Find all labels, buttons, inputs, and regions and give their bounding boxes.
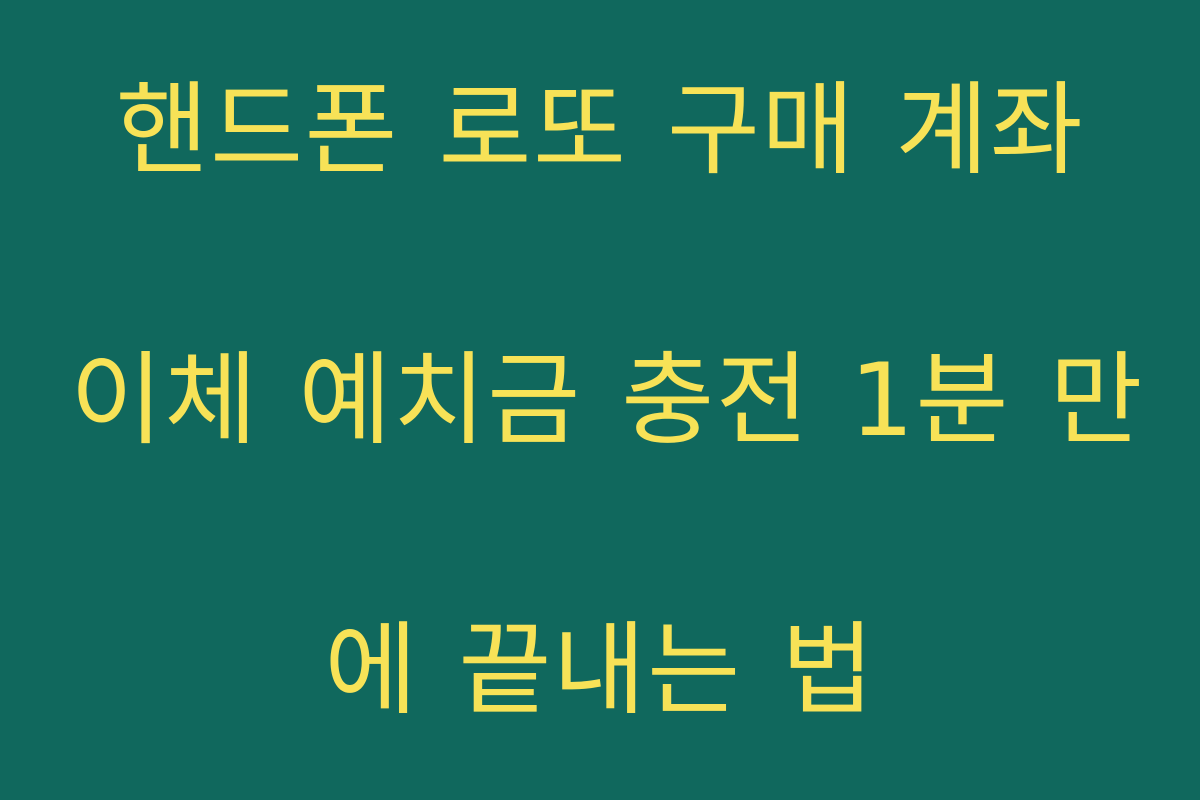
headline-line-3: 에 끝내는 법: [70, 603, 1130, 738]
banner-headline: 핸드폰 로또 구매 계좌 이체 예치금 충전 1분 만 에 끝내는 법: [70, 0, 1130, 800]
headline-line-1: 핸드폰 로또 구매 계좌: [70, 63, 1130, 198]
headline-line-2: 이체 예치금 충전 1분 만: [70, 333, 1130, 468]
banner-canvas: 핸드폰 로또 구매 계좌 이체 예치금 충전 1분 만 에 끝내는 법: [0, 0, 1200, 800]
